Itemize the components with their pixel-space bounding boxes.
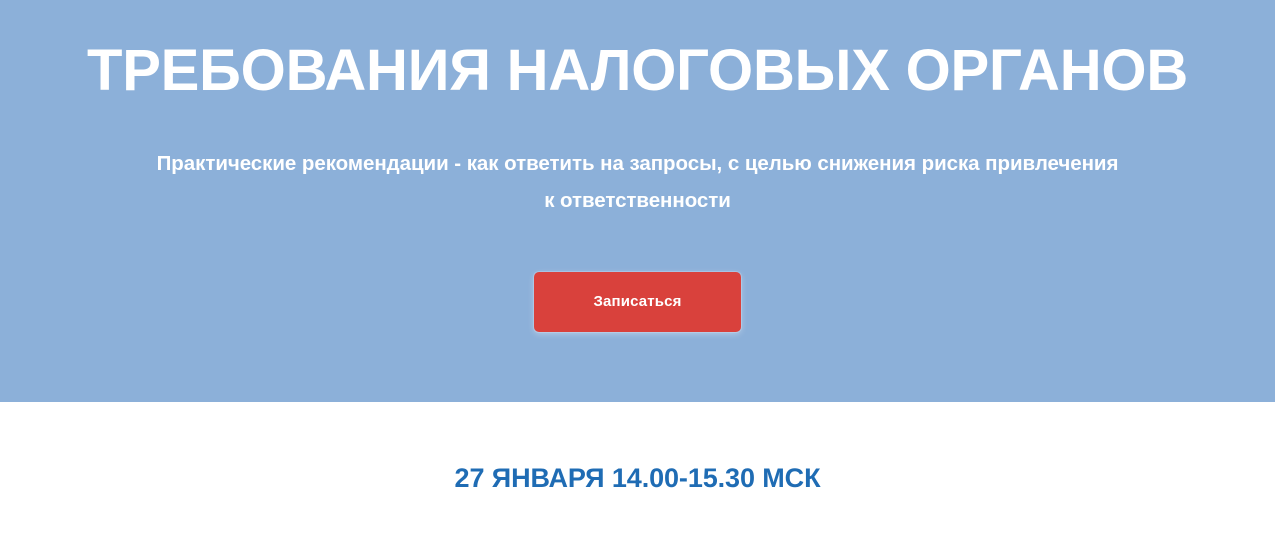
hero-subtitle: Практические рекомендации - как ответить…: [152, 145, 1123, 219]
event-info-section: 27 ЯНВАРЯ 14.00-15.30 МСК: [0, 402, 1275, 555]
landing-page: ТРЕБОВАНИЯ НАЛОГОВЫХ ОРГАНОВ Практически…: [0, 0, 1275, 555]
page-title: ТРЕБОВАНИЯ НАЛОГОВЫХ ОРГАНОВ: [0, 38, 1275, 104]
event-date-heading: 27 ЯНВАРЯ 14.00-15.30 МСК: [0, 461, 1275, 495]
signup-button[interactable]: Записаться: [534, 272, 741, 332]
hero-banner: ТРЕБОВАНИЯ НАЛОГОВЫХ ОРГАНОВ Практически…: [0, 0, 1275, 402]
hero-content: ТРЕБОВАНИЯ НАЛОГОВЫХ ОРГАНОВ Практически…: [0, 0, 1275, 402]
cta-container: Записаться: [0, 272, 1275, 332]
